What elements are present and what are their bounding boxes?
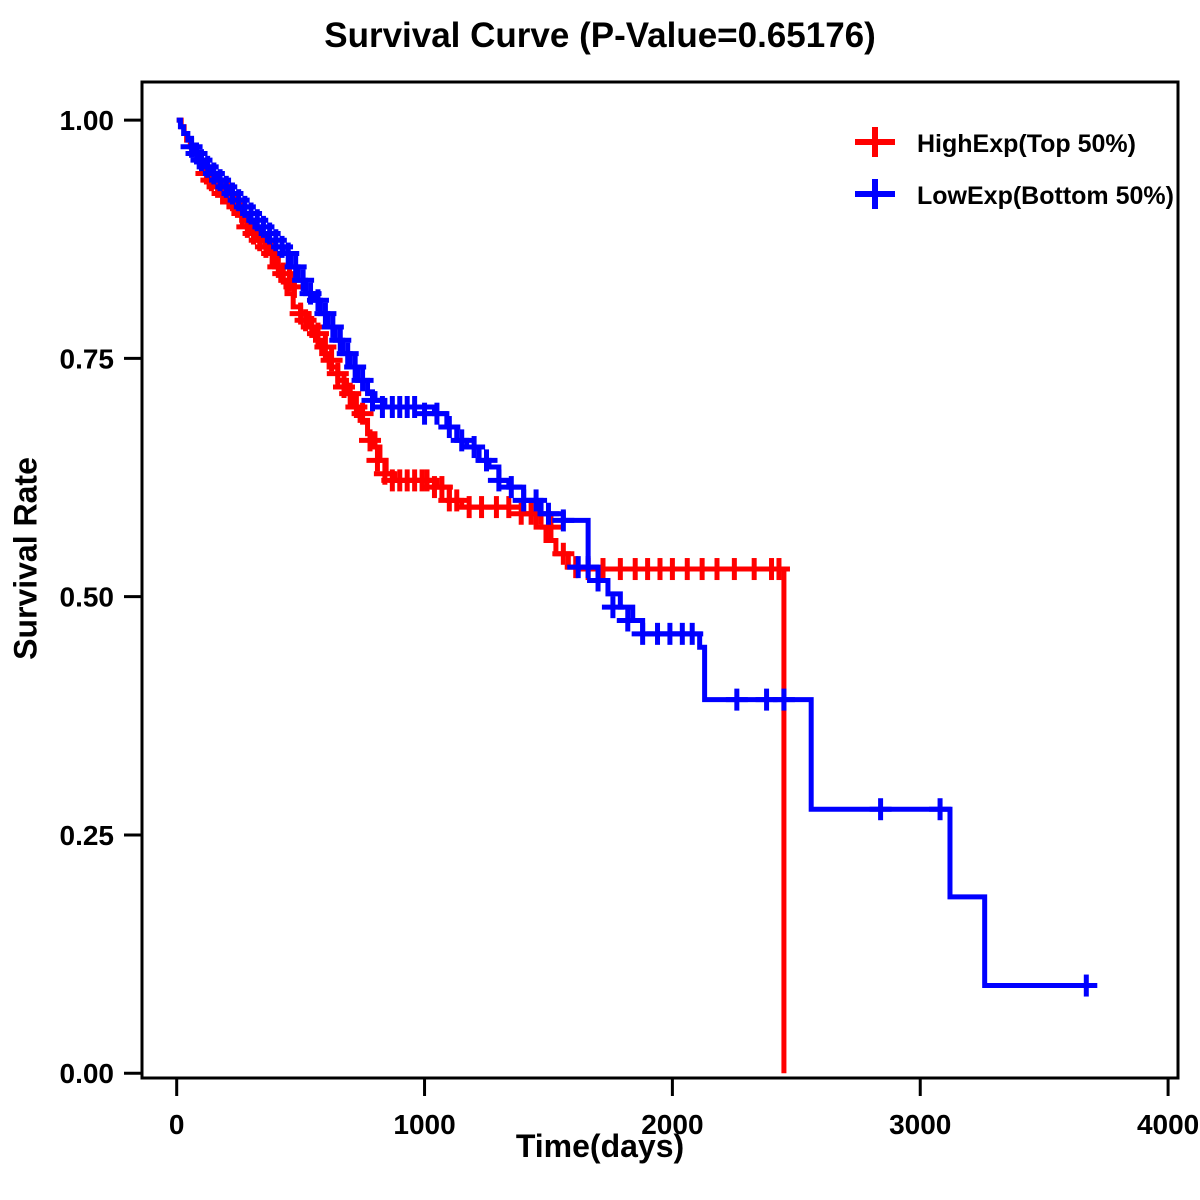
chart-legend: HighExp(Top 50%)LowExp(Bottom 50%) xyxy=(855,127,1174,210)
legend-plus-icon xyxy=(855,179,895,209)
legend-item-high-exp[interactable]: HighExp(Top 50%) xyxy=(855,127,1136,158)
legend-label: LowExp(Bottom 50%) xyxy=(917,182,1174,210)
y-tick-label: 0.50 xyxy=(60,582,115,613)
y-tick-label: 0.25 xyxy=(60,820,115,851)
y-tick-label: 0.75 xyxy=(60,343,115,374)
series-curves xyxy=(177,120,1098,1073)
legend-label: HighExp(Top 50%) xyxy=(917,130,1136,158)
survival-step-line xyxy=(177,120,784,1073)
chart-root: Survival Curve (P-Value=0.65176) 0.000.2… xyxy=(0,0,1200,1200)
censor-marks xyxy=(195,162,790,580)
y-tick-label: 1.00 xyxy=(60,105,115,136)
survival-plot: 0.000.250.500.751.00 01000200030004000 H… xyxy=(0,0,1200,1200)
series-high-exp xyxy=(177,120,790,1073)
y-axis-label: Survival Rate xyxy=(8,399,45,719)
y-axis-ticks: 0.000.250.500.751.00 xyxy=(60,105,143,1089)
y-tick-label: 0.00 xyxy=(60,1058,115,1089)
survival-step-line xyxy=(177,120,1087,985)
legend-plus-icon xyxy=(855,127,895,157)
x-axis-label: Time(days) xyxy=(0,1128,1200,1165)
censor-marks xyxy=(181,136,1098,997)
legend-item-low-exp[interactable]: LowExp(Bottom 50%) xyxy=(855,179,1174,210)
